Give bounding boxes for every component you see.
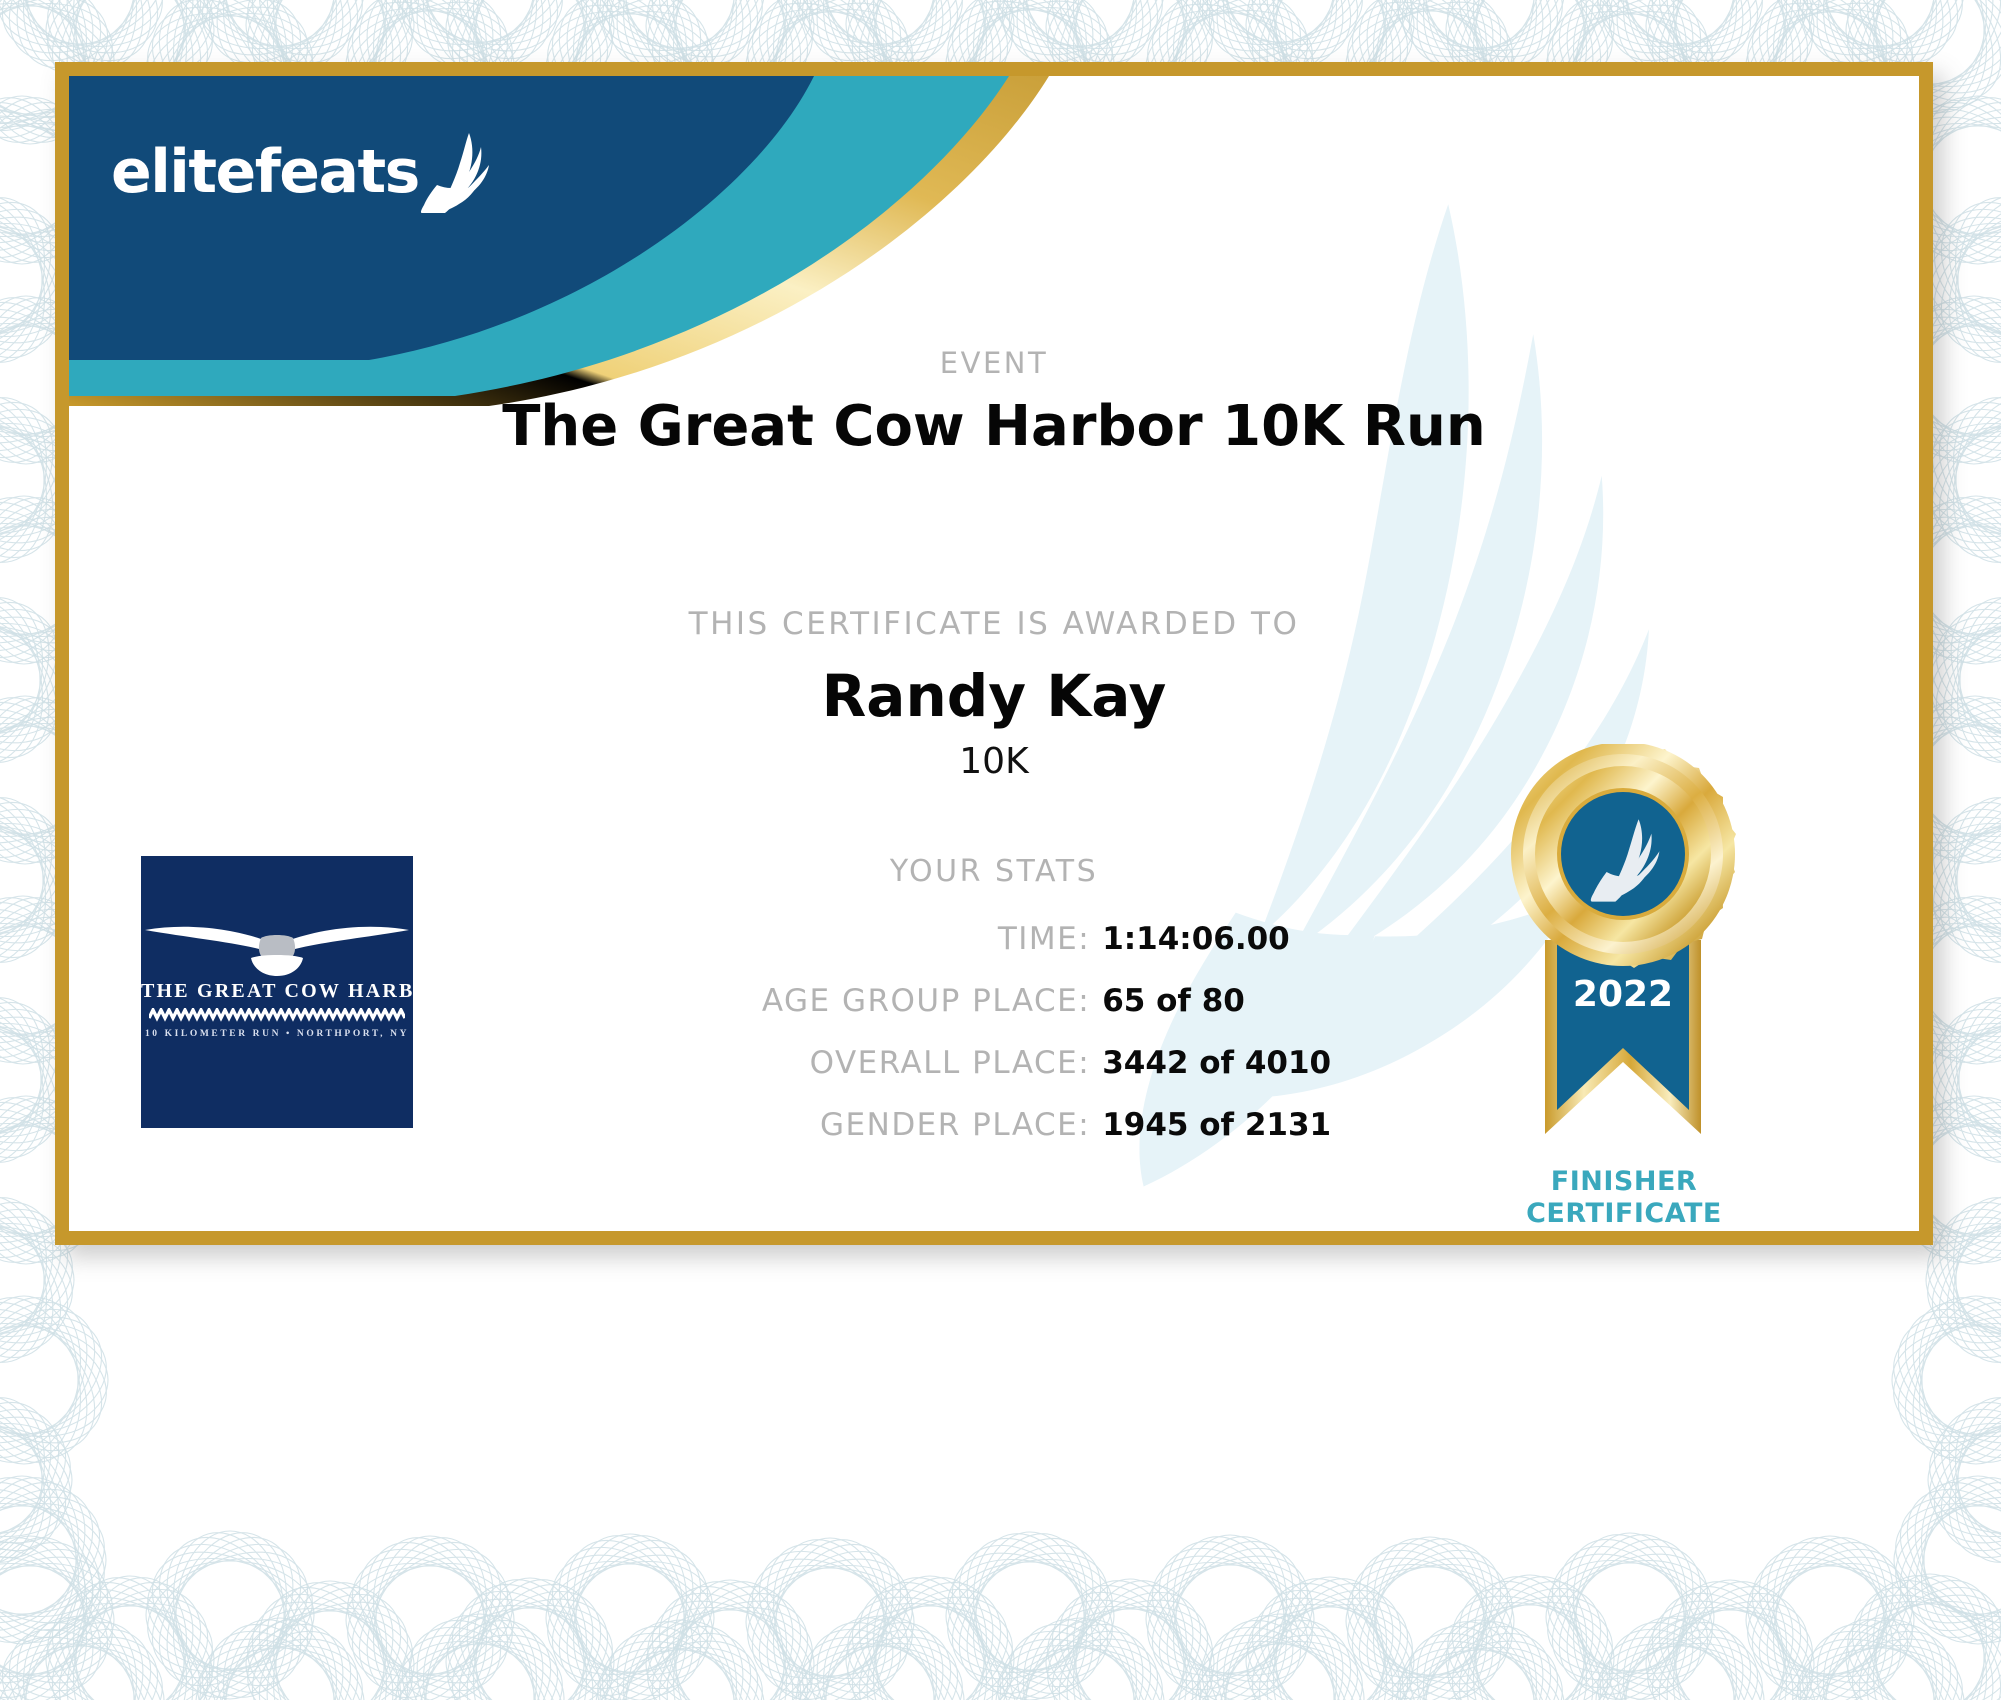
brand-logo: elitefeats bbox=[111, 131, 491, 213]
event-logo: THE GREAT COW HARBOR 10 KILOMETER RUN • … bbox=[141, 856, 413, 1128]
ribbon-banner-icon bbox=[1545, 940, 1701, 1134]
certificate-body: EVENT The Great Cow Harbor 10K Run THIS … bbox=[69, 76, 1919, 1231]
wave-divider-icon bbox=[149, 1008, 405, 1022]
medal-year: 2022 bbox=[1573, 974, 1673, 1015]
brand-wordmark: elitefeats bbox=[111, 142, 419, 202]
gold-rosette-icon: 2022 bbox=[1473, 744, 1773, 1164]
recipient-name: Randy Kay bbox=[69, 662, 1919, 730]
medal-caption-line1: FINISHER bbox=[1459, 1166, 1789, 1198]
medal-caption: FINISHER CERTIFICATE bbox=[1459, 1166, 1789, 1230]
seagull-icon bbox=[141, 908, 413, 978]
event-logo-subtitle: 10 KILOMETER RUN • NORTHPORT, NY bbox=[141, 1029, 413, 1039]
winged-foot-icon bbox=[419, 131, 491, 213]
awarded-caption: THIS CERTIFICATE IS AWARDED TO bbox=[69, 606, 1919, 642]
certificate-page: elitefeats EVENT The Great Cow Harbor 10… bbox=[0, 0, 2001, 1700]
event-title: The Great Cow Harbor 10K Run bbox=[69, 394, 1919, 459]
medal-caption-line2: CERTIFICATE bbox=[1459, 1198, 1789, 1230]
event-logo-name: THE GREAT COW HARBOR bbox=[141, 980, 413, 1003]
certificate-frame: elitefeats EVENT The Great Cow Harbor 10… bbox=[55, 62, 1933, 1245]
event-caption: EVENT bbox=[69, 346, 1919, 380]
